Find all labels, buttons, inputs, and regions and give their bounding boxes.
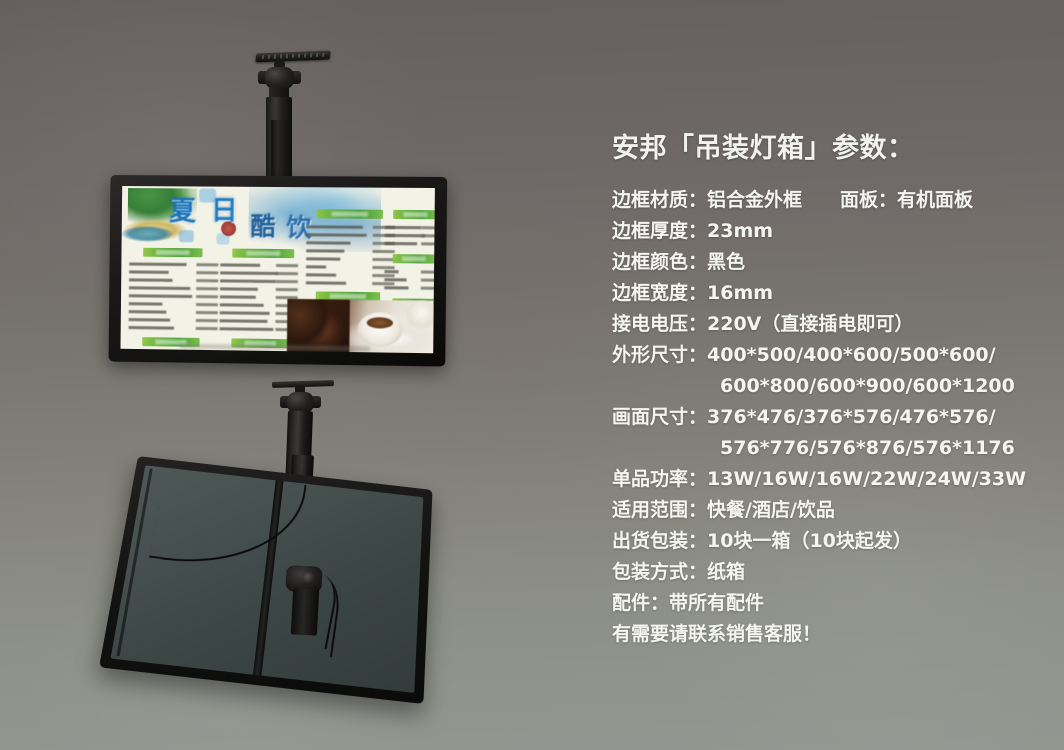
- spec-line: 接电电压：220V（直接插电即可）: [612, 309, 1042, 340]
- menu-item-row: [129, 263, 186, 267]
- menu-price-row: [372, 266, 394, 269]
- spec-line: 适用范围：快餐/酒店/饮品: [612, 495, 1042, 526]
- spec-line: 包装方式：纸箱: [612, 557, 1042, 588]
- menu-item-row: [129, 294, 192, 298]
- spec-line: 出货包装：10块一箱（10块起发）: [612, 526, 1042, 557]
- spec-line: 边框颜色：黑色: [612, 247, 1042, 278]
- menu-item-row: [129, 302, 163, 305]
- spec-line: 边框材质：铝合金外框 面板：有机面板: [612, 185, 1042, 216]
- menu-item-row: [306, 241, 350, 244]
- menu-item-row: [220, 271, 278, 275]
- menu-item-row: [129, 270, 168, 273]
- menu-price-row: [196, 295, 218, 298]
- menu-section-header: [232, 249, 294, 259]
- coffee-cup-liquid: [367, 317, 393, 328]
- menu-section-header: [317, 209, 383, 219]
- menu-price-row: [276, 288, 298, 291]
- menu-price-row: [372, 274, 394, 277]
- menu-item-row: [306, 281, 346, 284]
- menu-price-row: [421, 242, 435, 245]
- menu-price-row: [276, 280, 298, 283]
- spec-line: 单品功率：13W/16W/16W/22W/24W/33W: [612, 464, 1042, 495]
- menu-item-row: [306, 225, 362, 228]
- top-ball-joint: [265, 67, 294, 89]
- menu-item-row: [385, 226, 421, 229]
- second-lightbox-back-panel: [99, 456, 432, 704]
- menu-price-row: [196, 263, 218, 266]
- menu-item-row: [129, 310, 167, 313]
- menu-price-row: [373, 250, 395, 253]
- menu-face-panel: 夏 日 酷 饮: [120, 186, 434, 353]
- menu-item-row: [306, 233, 366, 237]
- spec-title: 安邦「吊装灯箱」参数：: [612, 126, 1042, 165]
- menu-price-row: [421, 279, 435, 282]
- coffee-cup-graphic-2: [406, 301, 435, 330]
- menu-item-row: [220, 287, 258, 290]
- menu-price-row: [196, 287, 218, 290]
- menu-price-row: [276, 264, 298, 267]
- menu-item-row: [385, 234, 425, 237]
- menu-price-row: [421, 226, 435, 229]
- menu-item-row: [384, 286, 408, 289]
- menu-item-row: [306, 273, 336, 276]
- menu-section-header: [393, 210, 435, 219]
- menu-item-row: [384, 278, 406, 281]
- spec-line: 600*800/600*900/600*1200: [612, 371, 1042, 402]
- menu-section-header: [393, 254, 435, 263]
- spec-line: 576*776/576*876/576*1176: [612, 433, 1042, 464]
- menu-item-row: [384, 270, 398, 273]
- menu-price-row: [196, 303, 218, 306]
- menu-item-row: [385, 242, 417, 245]
- menu-item-row: [220, 303, 264, 307]
- spec-line: 有需要请联系销售客服！: [612, 619, 1042, 650]
- menu-price-row: [196, 327, 218, 330]
- menu-item-row: [306, 249, 344, 252]
- ceiling-mounting-plate: [255, 51, 330, 63]
- panel-mount-foot: [291, 588, 319, 635]
- menu-item-row: [306, 257, 340, 260]
- menu-item-row: [220, 295, 256, 298]
- spec-line: 外形尺寸：400*500/400*600/500*600/: [612, 340, 1042, 371]
- menu-section-header: [143, 248, 202, 258]
- menu-item-row: [129, 326, 174, 330]
- menu-lightbox: 夏 日 酷 饮: [109, 175, 448, 367]
- menu-price-row: [196, 271, 218, 274]
- menu-item-row: [220, 327, 274, 331]
- menu-item-row: [220, 263, 260, 266]
- spec-line: 边框宽度：16mm: [612, 278, 1042, 309]
- spec-line-list: 边框材质：铝合金外框 面板：有机面板边框厚度：23mm边框颜色：黑色边框宽度：1…: [612, 185, 1042, 650]
- panel-tilt-bolt: [302, 572, 315, 585]
- menu-item-row: [129, 286, 190, 290]
- menu-price-row: [421, 271, 435, 274]
- menu-title-char-2: 日: [211, 198, 238, 225]
- menu-price-row: [421, 234, 435, 237]
- menu-item-row: [220, 311, 270, 315]
- menu-price-row: [196, 279, 218, 282]
- menu-price-row: [372, 258, 394, 261]
- menu-price-row: [421, 287, 435, 290]
- menu-item-row: [306, 265, 326, 268]
- menu-title-char-3: 酷: [250, 214, 275, 239]
- menu-price-row: [372, 282, 394, 285]
- menu-item-row: [129, 278, 172, 281]
- menu-title-char-1: 夏: [169, 198, 196, 225]
- menu-price-row: [276, 272, 298, 275]
- product-photo-scene: 夏 日 酷 饮: [0, 0, 1064, 750]
- menu-item-row: [220, 319, 268, 323]
- menu-price-row: [196, 319, 218, 322]
- spec-line: 边框厚度：23mm: [612, 216, 1042, 247]
- menu-item-row: [220, 279, 276, 283]
- menu-price-row: [196, 311, 218, 314]
- spec-line: 画面尺寸：376*476/376*576/476*576/: [612, 402, 1042, 433]
- menu-item-row: [129, 318, 170, 322]
- specification-panel: 安邦「吊装灯箱」参数： 边框材质：铝合金外框 面板：有机面板边框厚度：23mm边…: [612, 126, 1042, 650]
- mounting-holes: [262, 53, 325, 59]
- spec-line: 配件：带所有配件: [612, 588, 1042, 619]
- menu-title: 夏 日 酷 饮: [165, 196, 343, 245]
